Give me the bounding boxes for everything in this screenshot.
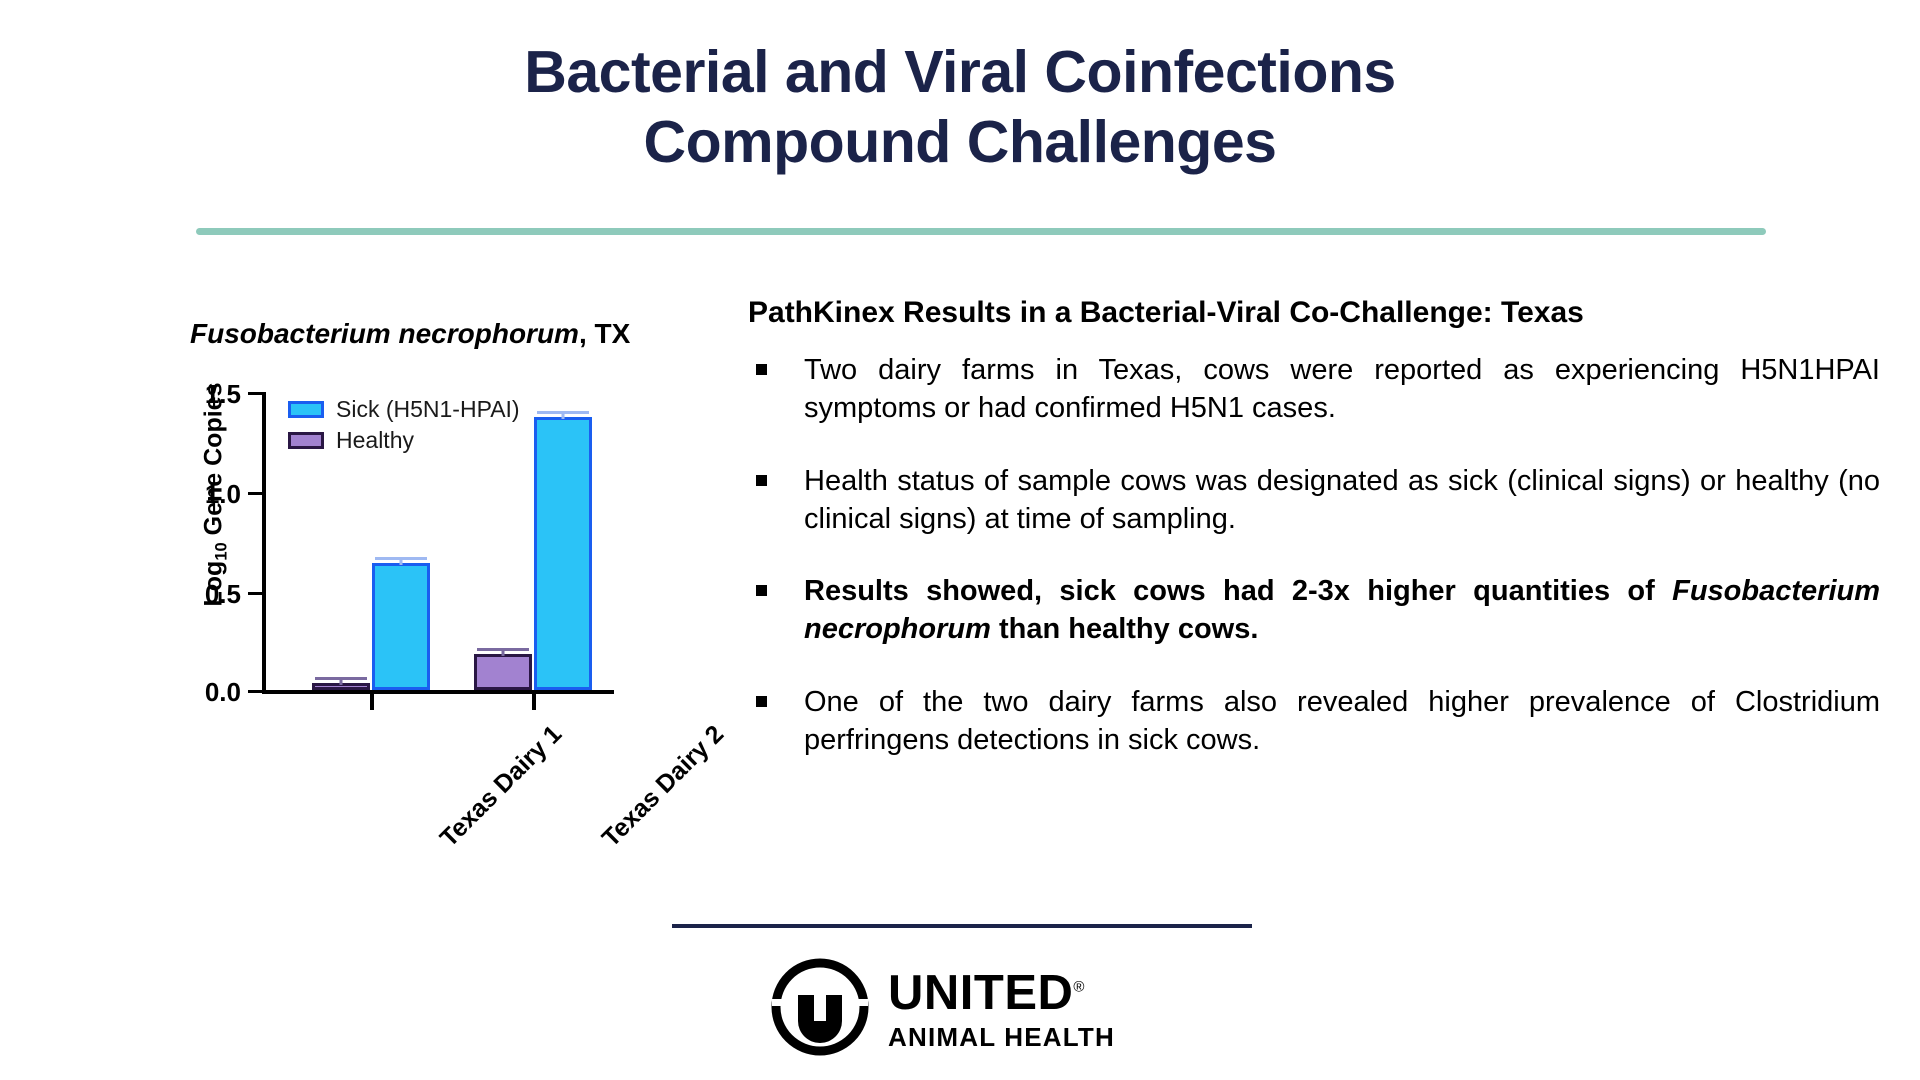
bullet-item-1: Two dairy farms in Texas, cows were repo… (748, 351, 1880, 428)
bullet-text-4: One of the two dairy farms also revealed… (804, 686, 1880, 756)
y-tick-label-0.0: 0.0 (205, 679, 241, 705)
united-u-mark-icon (768, 955, 872, 1064)
title-line-2: Compound Challenges (0, 108, 1920, 178)
logo-secondary-text: ANIMAL HEALTH (888, 1024, 1115, 1050)
y-tick-0.0: 0.0 (248, 690, 266, 693)
chart-title: Fusobacterium necrophorum, TX (190, 318, 630, 350)
plot-area: Log10 Gene Copies 1.5 1.0 0.5 0.0 Sick (… (140, 372, 680, 732)
bullet-marker-icon (756, 364, 767, 375)
y-tick-1.5: 1.5 (248, 392, 266, 395)
bullet-text-3-part1: Results showed, sick cows had 2-3x highe… (804, 575, 1672, 607)
y-tick-1.0: 1.0 (248, 492, 266, 495)
error-bar-healthy-2 (477, 648, 529, 656)
error-bar-healthy-1 (315, 677, 367, 685)
y-tick-label-1.0: 1.0 (205, 481, 241, 507)
y-axis-label-sub: 10 (213, 542, 231, 560)
content-heading: PathKinex Results in a Bacterial-Viral C… (748, 295, 1880, 331)
logo-wordmark: UNITED® ANIMAL HEALTH (888, 969, 1115, 1050)
logo-primary-label: UNITED (888, 966, 1073, 1020)
bullet-item-3: Results showed, sick cows had 2-3x highe… (748, 572, 1880, 649)
bullet-text-3-part2: than healthy cows. (991, 613, 1259, 645)
error-bar-sick-2 (537, 411, 589, 419)
x-tick-2 (532, 694, 536, 710)
logo-primary-text: UNITED® (888, 969, 1115, 1018)
bullet-item-2: Health status of sample cows was designa… (748, 462, 1880, 539)
chart-title-suffix: , TX (579, 318, 630, 349)
error-bar-sick-1 (375, 557, 427, 565)
chart-title-species: Fusobacterium necrophorum (190, 318, 579, 349)
bullet-marker-icon (756, 475, 767, 486)
footer-divider (672, 924, 1252, 928)
bullet-list: Two dairy farms in Texas, cows were repo… (748, 351, 1880, 759)
title-line-1: Bacterial and Viral Coinfections (524, 39, 1395, 105)
bar-healthy-texas-dairy-2 (474, 654, 532, 690)
content-column: PathKinex Results in a Bacterial-Viral C… (748, 295, 1880, 759)
y-tick-0.5: 0.5 (248, 592, 266, 595)
united-animal-health-logo: UNITED® ANIMAL HEALTH (768, 955, 1115, 1064)
title-divider (196, 228, 1766, 235)
bullet-item-4: One of the two dairy farms also revealed… (748, 683, 1880, 760)
page-title: Bacterial and Viral Coinfections Compoun… (0, 38, 1920, 177)
bullet-text-1: Two dairy farms in Texas, cows were repo… (804, 354, 1880, 424)
chart-panel: Fusobacterium necrophorum, TX Log10 Gene… (140, 300, 710, 880)
bar-sick-texas-dairy-2 (534, 417, 592, 690)
logo-registered-mark: ® (1073, 979, 1085, 996)
x-axis-label-texas-dairy-2: Texas Dairy 2 (597, 720, 730, 853)
bullet-marker-icon (756, 585, 767, 596)
bars-container (266, 390, 614, 690)
x-axis-label-texas-dairy-1: Texas Dairy 1 (435, 720, 568, 853)
y-tick-label-1.5: 1.5 (205, 381, 241, 407)
bar-healthy-texas-dairy-1 (312, 683, 370, 690)
x-axis-line (262, 690, 614, 694)
x-tick-1 (370, 694, 374, 710)
bullet-text-2: Health status of sample cows was designa… (804, 465, 1880, 535)
y-tick-label-0.5: 0.5 (205, 581, 241, 607)
bar-sick-texas-dairy-1 (372, 563, 430, 690)
bullet-marker-icon (756, 696, 767, 707)
